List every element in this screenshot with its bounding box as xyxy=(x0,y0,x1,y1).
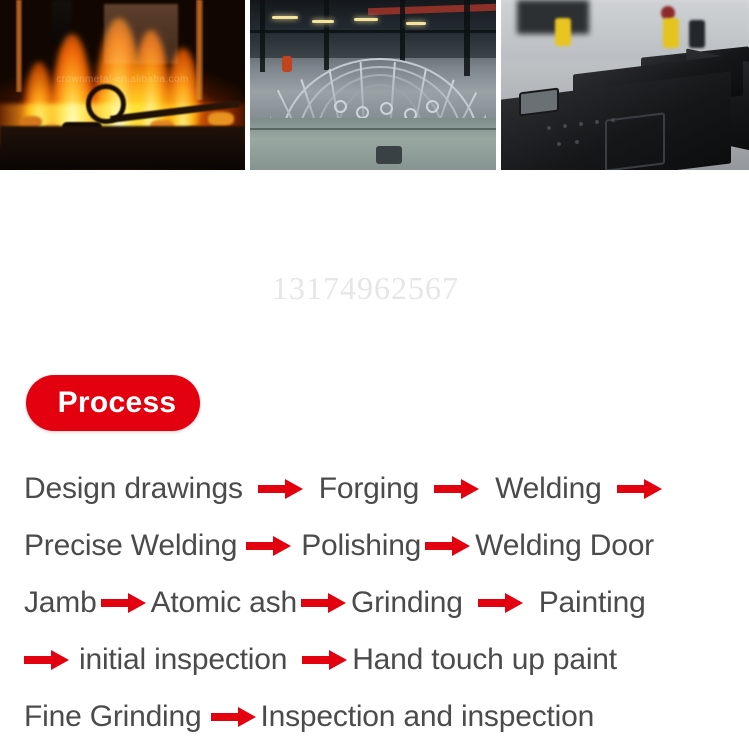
process-step-label: Painting xyxy=(539,588,646,618)
arrow-right-icon xyxy=(617,477,663,501)
scroll-ornament-5 xyxy=(426,100,439,113)
process-step-line: Fine GrindingInspection and inspection xyxy=(0,688,749,745)
forge-floor xyxy=(0,126,245,170)
factory-light-2 xyxy=(312,20,334,23)
painted-doors-photo xyxy=(501,0,749,170)
process-content: 13174962567 Process Design drawingsForgi… xyxy=(0,170,749,597)
arrow-right-icon xyxy=(434,477,480,501)
hot-scroll-ring xyxy=(86,84,126,124)
process-step-label: Welding Door xyxy=(475,531,654,561)
scroll-ornament-1 xyxy=(334,100,347,113)
process-step-label: Polishing xyxy=(301,531,421,561)
workshop-dark-area xyxy=(517,0,589,34)
arrow-right-icon xyxy=(24,648,70,672)
workshop-worker-2 xyxy=(663,18,679,48)
workshop-worker-3 xyxy=(689,20,705,48)
factory-floor xyxy=(250,118,496,170)
factory-floor-edge xyxy=(250,128,496,130)
forge-scene: crownmetal-en.alibaba.com xyxy=(0,0,245,170)
photo-watermark: crownmetal-en.alibaba.com xyxy=(0,74,245,85)
factory-scene xyxy=(250,0,496,170)
workshop-worker-1 xyxy=(555,18,571,46)
arrow-right-icon xyxy=(302,648,348,672)
process-step-label: Grinding xyxy=(351,588,463,618)
coal-5 xyxy=(208,112,234,126)
scroll-ornament-3 xyxy=(380,102,393,115)
factory-light-4 xyxy=(406,22,426,25)
process-step-line: Design drawingsForgingWelding xyxy=(0,460,749,517)
door-rivet-7 xyxy=(575,140,579,144)
arrow-right-icon xyxy=(246,534,292,558)
arrow-right-icon xyxy=(301,591,347,615)
process-step-line: Precise WeldingPolishingWelding Door xyxy=(0,517,749,574)
factory-crossbeam xyxy=(250,30,496,33)
door-rivet-2 xyxy=(563,124,567,128)
process-step-line: JambAtomic ashGrindingPainting xyxy=(0,574,749,631)
process-flow-list: Design drawingsForgingWeldingPrecise Wel… xyxy=(0,460,749,745)
door-rivet-5 xyxy=(611,118,615,122)
factory-equipment xyxy=(376,146,402,164)
factory-column-1 xyxy=(260,0,265,72)
arrow-right-icon xyxy=(211,705,257,729)
process-step-label: Forging xyxy=(319,474,419,504)
factory-light-1 xyxy=(272,16,298,19)
door-rivet-4 xyxy=(595,120,599,124)
process-badge: Process xyxy=(26,375,200,431)
process-step-label: Welding xyxy=(495,474,601,504)
doors-workshop-scene xyxy=(501,0,749,170)
door-window-cutout xyxy=(519,88,559,117)
process-step-label: Design drawings xyxy=(24,474,243,504)
process-step-label: Hand touch up paint xyxy=(352,645,617,675)
arrow-right-icon xyxy=(101,591,147,615)
welded-arch-frame-photo xyxy=(250,0,496,170)
arrow-right-icon xyxy=(258,477,304,501)
forging-furnace-photo: crownmetal-en.alibaba.com xyxy=(0,0,245,170)
phone-watermark: 13174962567 xyxy=(272,270,459,307)
photo-strip: crownmetal-en.alibaba.com xyxy=(0,0,749,170)
process-step-label: Jamb xyxy=(24,588,97,618)
process-badge-label: Process xyxy=(42,386,185,420)
door-rivet-3 xyxy=(579,122,583,126)
process-step-label: initial inspection xyxy=(79,645,287,675)
process-step-label: Inspection and inspection xyxy=(261,702,595,732)
arrow-right-icon xyxy=(478,591,524,615)
door-rivet-6 xyxy=(557,142,561,146)
door-rivet-1 xyxy=(547,126,551,130)
process-step-label: Precise Welding xyxy=(24,531,237,561)
process-step-label: Fine Grinding xyxy=(24,702,202,732)
process-step-line: initial inspectionHand touch up paint xyxy=(0,631,749,688)
arrow-right-icon xyxy=(425,534,471,558)
process-step-label: Atomic ash xyxy=(151,588,297,618)
factory-light-3 xyxy=(354,18,378,21)
